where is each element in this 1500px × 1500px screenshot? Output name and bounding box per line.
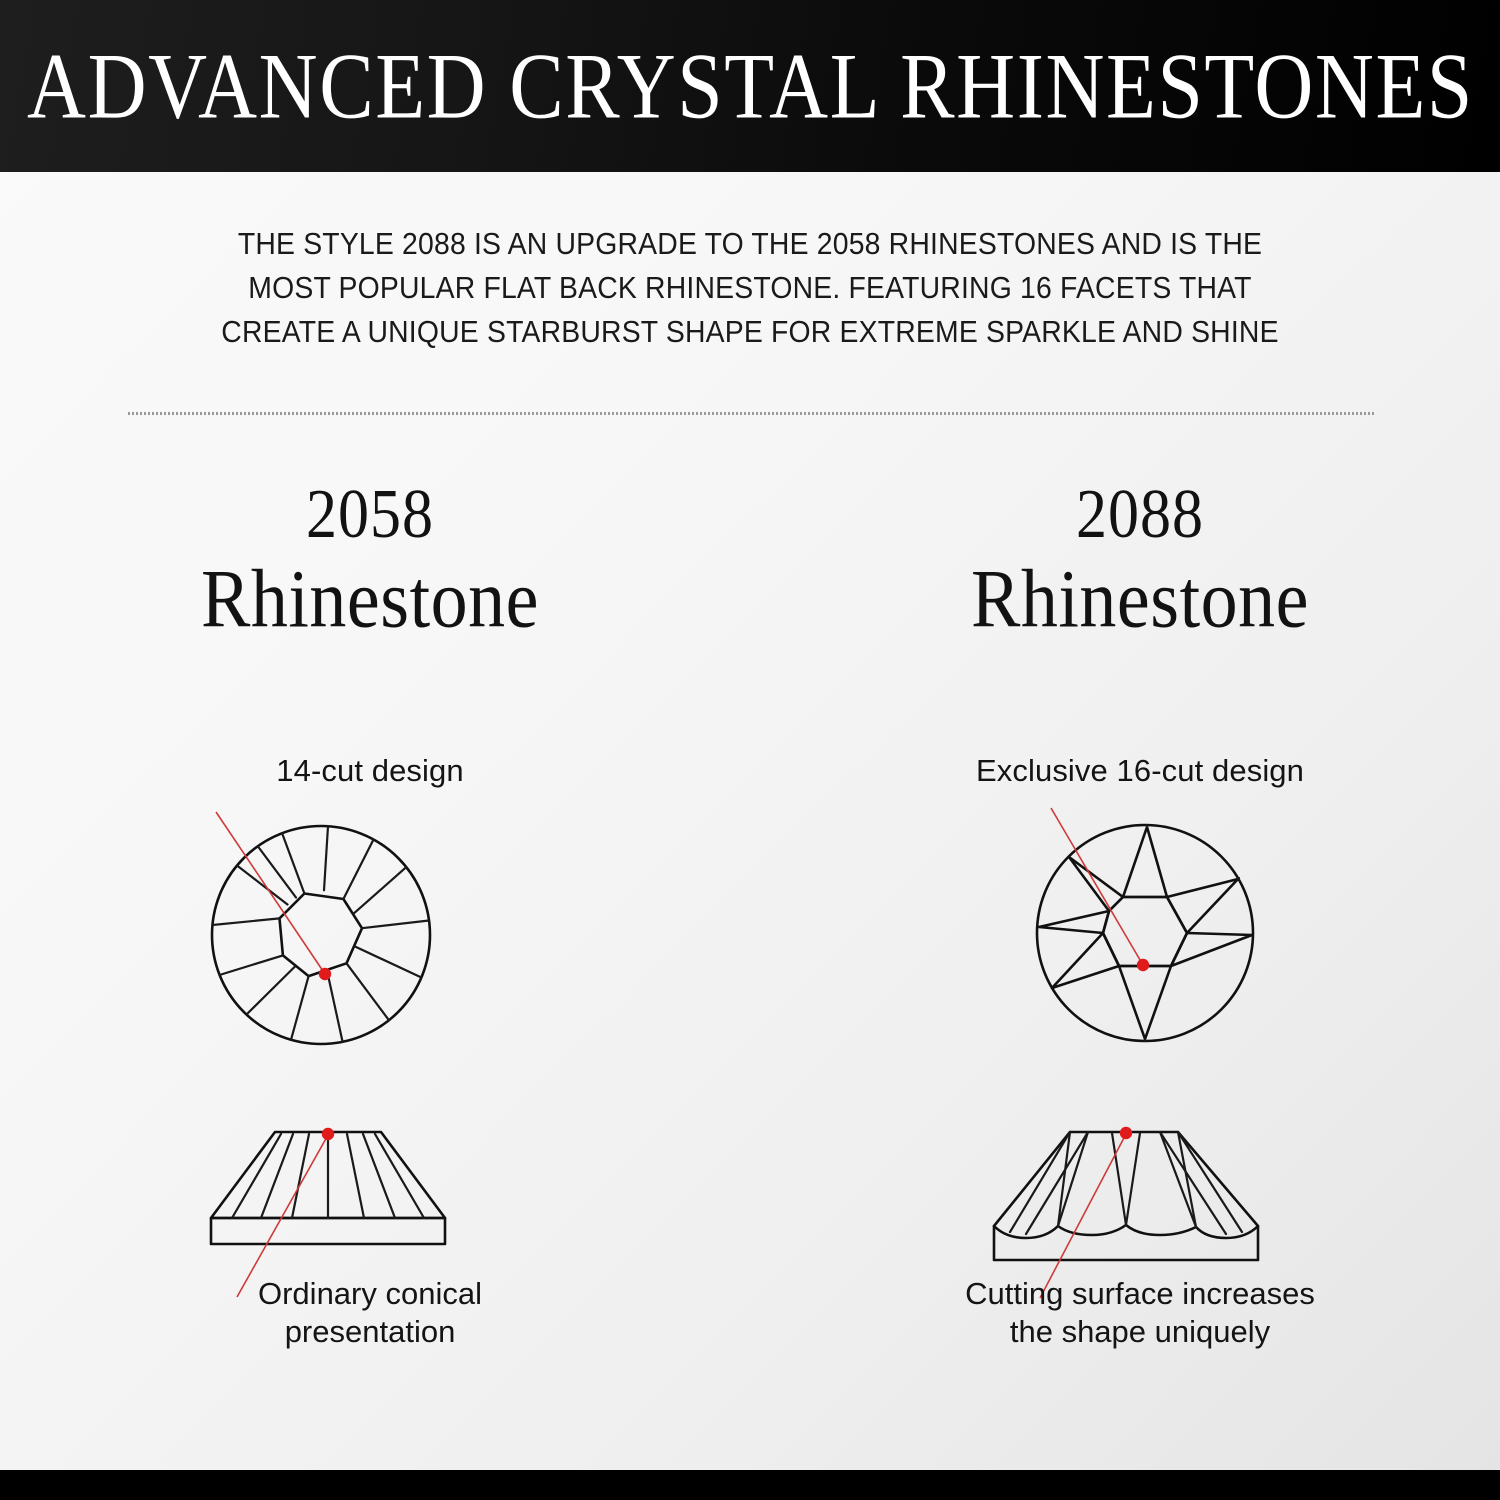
side-view-diagram-2058 xyxy=(60,1120,680,1270)
stone-top-view-svg-2058 xyxy=(60,810,680,1080)
marker-dot-icon xyxy=(1120,1127,1132,1139)
stone-title-2088: 2088 Rhinestone xyxy=(830,480,1450,632)
marker-dot-icon xyxy=(1137,959,1149,971)
intro-line-3: CREATE A UNIQUE STARBURST SHAPE FOR EXTR… xyxy=(173,310,1326,354)
stone-word-2088: Rhinestone xyxy=(830,558,1450,641)
side-view-diagram-2088 xyxy=(830,1120,1450,1270)
stone-title-2058: 2058 Rhinestone xyxy=(60,480,680,632)
infographic-page: ADVANCED CRYSTAL RHINESTONES THE STYLE 2… xyxy=(0,0,1500,1500)
column-2088: 2088 Rhinestone Exclusive 16-cut design xyxy=(830,480,1450,1400)
stone-top-view-svg-2088 xyxy=(830,810,1450,1080)
base-slab-outline xyxy=(211,1218,445,1244)
header-banner: ADVANCED CRYSTAL RHINESTONES xyxy=(0,0,1500,172)
outer-circle-icon xyxy=(212,826,430,1044)
dotted-divider xyxy=(128,412,1375,415)
stone-word-2058: Rhinestone xyxy=(60,558,680,641)
intro-paragraph: THE STYLE 2088 IS AN UPGRADE TO THE 2058… xyxy=(173,222,1326,354)
caption-2058-line-2: presentation xyxy=(60,1313,680,1351)
intro-line-2: MOST POPULAR FLAT BACK RHINESTONE. FEATU… xyxy=(173,266,1326,310)
stone-number-2058: 2058 xyxy=(60,480,680,549)
caption-2088: Cutting surface increases the shape uniq… xyxy=(830,1275,1450,1351)
inner-table-polygon xyxy=(1103,897,1187,966)
base-slab-outline xyxy=(994,1226,1258,1260)
callout-label-14-cut: 14-cut design xyxy=(60,752,680,790)
caption-2058-line-1: Ordinary conical xyxy=(60,1275,680,1313)
inner-table-polygon xyxy=(280,894,363,977)
marker-dot-icon xyxy=(319,968,331,980)
column-2058: 2058 Rhinestone 14-cut design xyxy=(60,480,680,1400)
footer-bar xyxy=(0,1470,1500,1500)
marker-dot-icon xyxy=(322,1128,334,1140)
top-view-diagram-2058 xyxy=(60,810,680,1080)
page-title: ADVANCED CRYSTAL RHINESTONES xyxy=(27,39,1474,133)
stone-number-2088: 2088 xyxy=(830,480,1450,549)
caption-2058: Ordinary conical presentation xyxy=(60,1275,680,1351)
crown-facet-lines xyxy=(232,1133,424,1218)
star-ray-facets xyxy=(1039,827,1252,1039)
leader-line xyxy=(1051,808,1143,965)
crown-star-facet-lines xyxy=(1010,1132,1242,1234)
caption-2088-line-1: Cutting surface increases xyxy=(830,1275,1450,1313)
callout-label-16-cut: Exclusive 16-cut design xyxy=(830,752,1450,790)
top-view-diagram-2088 xyxy=(830,810,1450,1080)
caption-2088-line-2: the shape uniquely xyxy=(830,1313,1450,1351)
intro-line-1: THE STYLE 2088 IS AN UPGRADE TO THE 2058… xyxy=(173,222,1326,266)
